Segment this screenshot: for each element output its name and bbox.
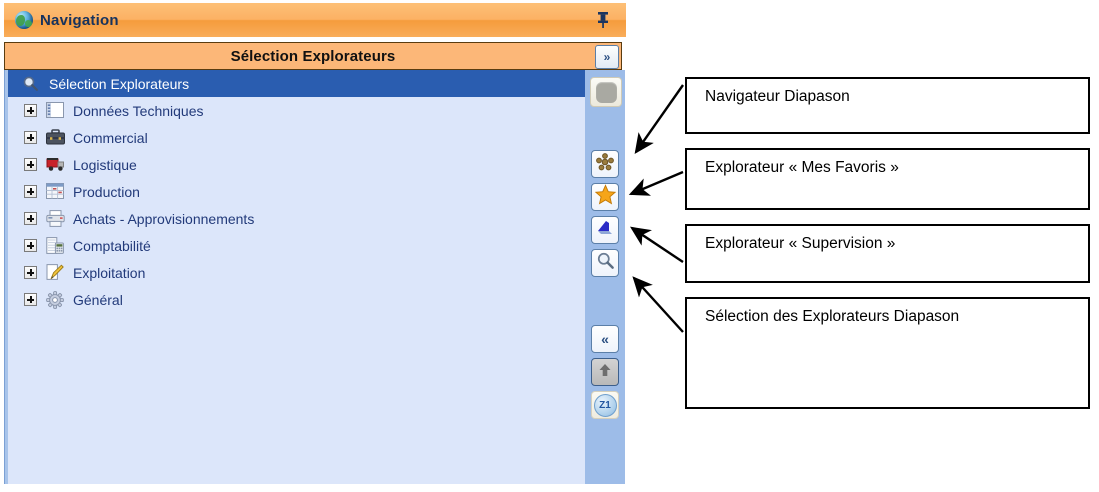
subheader-bar: Sélection Explorateurs » <box>4 42 622 70</box>
explorer-tree[interactable]: Sélection ExplorateursDonnées Techniques… <box>8 70 586 484</box>
tree-item-3[interactable]: Logistique <box>8 151 586 178</box>
magnifier-icon <box>596 251 615 275</box>
z1-badge-icon: Z1 <box>594 394 617 417</box>
tree-item-8[interactable]: Général <box>8 286 586 313</box>
blob-button[interactable] <box>590 77 622 107</box>
tree-item-label: Exploitation <box>73 266 145 280</box>
expand-plus-icon[interactable] <box>24 212 37 225</box>
printer-icon <box>46 210 65 227</box>
document-list-icon <box>46 102 65 119</box>
callout-mes-favoris: Explorateur « Mes Favoris » <box>685 148 1090 210</box>
up-button[interactable] <box>591 358 619 386</box>
tree-item-label: Comptabilité <box>73 239 151 253</box>
panel-title-bar: Navigation <box>4 3 626 37</box>
callout-text: Explorateur « Supervision » <box>705 235 895 253</box>
tree-item-label: Général <box>73 293 123 307</box>
tree-item-5[interactable]: Achats - Approvisionnements <box>8 205 586 232</box>
navigator-button[interactable] <box>591 150 619 178</box>
tree-item-2[interactable]: Commercial <box>8 124 586 151</box>
tree-item-4[interactable]: Production <box>8 178 586 205</box>
expand-button-label: » <box>604 51 611 63</box>
z1-button[interactable]: Z1 <box>591 391 619 419</box>
expand-plus-icon[interactable] <box>24 131 37 144</box>
pin-icon[interactable] <box>596 11 610 29</box>
spreadsheet-icon <box>46 183 65 200</box>
expand-plus-icon[interactable] <box>24 158 37 171</box>
arrow-up-icon <box>598 362 612 383</box>
vertical-toolbar: « Z1 <box>585 70 625 484</box>
tree-item-label: Logistique <box>73 158 137 172</box>
truck-icon <box>46 156 65 173</box>
tree-item-0[interactable]: Sélection Explorateurs <box>8 70 586 97</box>
star-icon <box>595 184 616 210</box>
rounded-blob-icon <box>596 82 617 103</box>
molecule-icon <box>595 152 615 177</box>
subheader-title: Sélection Explorateurs <box>231 48 396 65</box>
tree-item-label: Production <box>73 185 140 199</box>
callout-navigateur: Navigateur Diapason <box>685 77 1090 134</box>
double-chevron-left-icon: « <box>601 332 609 346</box>
expand-plus-icon[interactable] <box>24 266 37 279</box>
tree-item-7[interactable]: Exploitation <box>8 259 586 286</box>
panel-title: Navigation <box>40 12 119 29</box>
tree-item-label: Commercial <box>73 131 148 145</box>
tree-item-1[interactable]: Données Techniques <box>8 97 586 124</box>
callout-text: Navigateur Diapason <box>705 88 850 106</box>
callout-text: Explorateur « Mes Favoris » <box>705 159 899 177</box>
tree-item-6[interactable]: Comptabilité <box>8 232 586 259</box>
magnifier-icon <box>22 75 41 92</box>
supervision-button[interactable] <box>591 216 619 244</box>
expand-plus-icon[interactable] <box>24 104 37 117</box>
callout-selection-explorateurs: Sélection des Explorateurs Diapason <box>685 297 1090 409</box>
navigation-panel: Navigation Sélection Explorateurs » Séle… <box>0 0 629 492</box>
document-pencil-icon <box>46 264 65 281</box>
callout-text: Sélection des Explorateurs Diapason <box>705 308 959 326</box>
tree-panel: Sélection ExplorateursDonnées Techniques… <box>4 70 622 484</box>
tree-item-label: Données Techniques <box>73 104 204 118</box>
favorites-button[interactable] <box>591 183 619 211</box>
expand-plus-icon[interactable] <box>24 185 37 198</box>
blue-flag-icon <box>595 218 615 243</box>
ledger-icon <box>46 237 65 254</box>
callout-supervision: Explorateur « Supervision » <box>685 224 1090 283</box>
tree-item-label: Achats - Approvisionnements <box>73 212 254 226</box>
explorer-select-button[interactable] <box>591 249 619 277</box>
tree-item-label: Sélection Explorateurs <box>49 77 189 91</box>
double-chevron-right-icon[interactable]: » <box>595 45 619 69</box>
expand-plus-icon[interactable] <box>24 293 37 306</box>
expand-plus-icon[interactable] <box>24 239 37 252</box>
briefcase-icon <box>46 129 65 146</box>
globe-icon <box>15 11 33 29</box>
gear-icon <box>46 291 65 308</box>
collapse-button[interactable]: « <box>591 325 619 353</box>
